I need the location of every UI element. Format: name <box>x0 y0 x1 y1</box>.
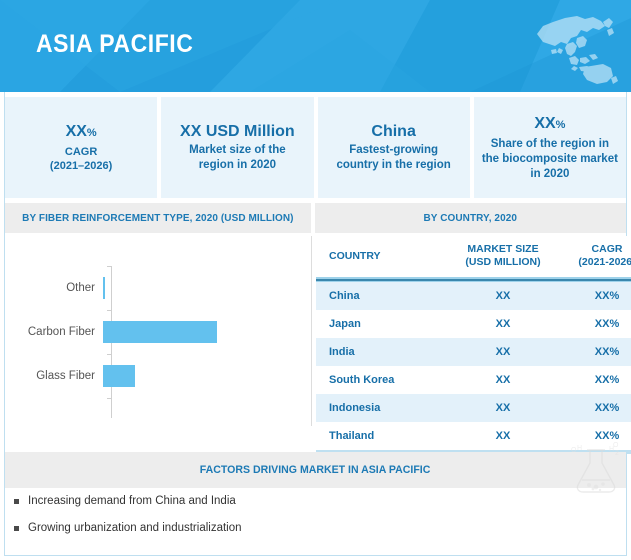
table-cell-country: India <box>316 338 451 366</box>
stat-card-fastest-country-sub: country in the region <box>336 158 450 173</box>
chart-bar-track <box>103 266 311 310</box>
stat-card-row: XX% CAGR (2021–2026) XX USD Million Mark… <box>5 97 626 198</box>
svg-text:O: O <box>613 442 619 449</box>
chart-bar-track <box>103 310 311 354</box>
stat-card-cagr-percent-sign: % <box>87 127 97 139</box>
country-table: COUNTRY MARKET SIZE (USD MILLION) CAGR (… <box>316 236 631 454</box>
stat-card-cagr: XX% CAGR (2021–2026) <box>5 97 157 198</box>
svg-text:H: H <box>577 445 582 452</box>
table-cell-market-size: XX <box>451 310 555 338</box>
stat-card-cagr-value: XX% <box>66 122 97 143</box>
table-row[interactable]: South Korea XX XX% <box>316 366 631 394</box>
chart-bar-row: Other <box>5 266 311 310</box>
asia-pacific-map-icon <box>523 8 619 86</box>
asia-pacific-infographic: ASIA PACIFIC XX% <box>0 0 631 560</box>
table-cell-market-size: XX <box>451 394 555 422</box>
stat-card-region-share-value: XX% <box>534 114 565 135</box>
flask-watermark-icon: O H H 2 O <box>569 442 623 498</box>
table-row[interactable]: Indonesia XX XX% <box>316 394 631 422</box>
table-cell-country: China <box>316 282 451 310</box>
country-table-panel: COUNTRY MARKET SIZE (USD MILLION) CAGR (… <box>316 236 626 454</box>
chart-bar-glass-fiber <box>103 365 135 387</box>
table-section-header: BY COUNTRY, 2020 <box>315 203 626 233</box>
chart-category-label: Glass Fiber <box>5 369 103 383</box>
table-cell-country: South Korea <box>316 366 451 394</box>
table-header-cagr-line1: CAGR <box>559 243 631 256</box>
page-title: ASIA PACIFIC <box>36 29 193 59</box>
chart-axis-tick <box>107 398 111 399</box>
table-body: China XX XX% Japan XX XX% India XX XX% S… <box>316 282 631 454</box>
table-header-cagr-line2: (2021-2026) <box>559 256 631 269</box>
square-bullet-icon <box>14 499 19 504</box>
table-row[interactable]: China XX XX% <box>316 282 631 310</box>
stat-card-region-share-sub: the biocomposite market in 2020 <box>480 152 620 182</box>
chart-plot-area: Other Carbon Fiber Glass Fiber <box>5 242 311 430</box>
table-cell-market-size: XX <box>451 282 555 310</box>
header-banner: ASIA PACIFIC <box>0 0 631 92</box>
chart-bar-track <box>103 354 311 398</box>
chart-section-header-label: BY FIBER REINFORCEMENT TYPE, 2020 (USD M… <box>22 212 293 224</box>
table-row[interactable]: Japan XX XX% <box>316 310 631 338</box>
fiber-reinforcement-bar-chart: Other Carbon Fiber Glass Fiber <box>5 236 311 436</box>
chart-bar-row: Carbon Fiber <box>5 310 311 354</box>
table-cell-cagr: XX% <box>555 394 631 422</box>
factors-section-header: FACTORS DRIVING MARKET IN ASIA PACIFIC <box>5 452 626 488</box>
table-cell-cagr: XX% <box>555 310 631 338</box>
chart-category-label: Other <box>5 281 103 295</box>
stat-card-region-share-desc: Share of the region in <box>491 137 609 152</box>
table-row[interactable]: India XX XX% <box>316 338 631 366</box>
chart-bar-other <box>103 277 105 299</box>
panel-divider <box>311 236 312 426</box>
table-cell-cagr: XX% <box>555 338 631 366</box>
table-cell-country: Thailand <box>316 422 451 450</box>
table-cell-market-size: XX <box>451 366 555 394</box>
table-header-market-size-line1: MARKET SIZE <box>455 243 551 256</box>
factor-list-item-label: Growing urbanization and industrializati… <box>28 521 242 536</box>
table-header-country-line1: COUNTRY <box>329 250 447 263</box>
stat-card-region-share-value-text: XX <box>534 115 555 132</box>
chart-category-label: Carbon Fiber <box>5 325 103 339</box>
chart-section-header: BY FIBER REINFORCEMENT TYPE, 2020 (USD M… <box>5 203 311 233</box>
table-header-cagr: CAGR (2021-2026) <box>555 236 631 278</box>
table-header-market-size: MARKET SIZE (USD MILLION) <box>451 236 555 278</box>
stat-card-market-size-value: XX USD Million <box>180 122 295 141</box>
table-cell-cagr: XX% <box>555 366 631 394</box>
table-cell-country: Indonesia <box>316 394 451 422</box>
factors-section-header-label: FACTORS DRIVING MARKET IN ASIA PACIFIC <box>200 464 431 476</box>
table-cell-country: Japan <box>316 310 451 338</box>
factor-list-item: Increasing demand from China and India <box>14 494 614 509</box>
stat-card-market-size-sub: region in 2020 <box>199 158 276 173</box>
stat-card-cagr-desc: CAGR <box>65 145 97 159</box>
table-cell-market-size: XX <box>451 422 555 450</box>
table-header-row: COUNTRY MARKET SIZE (USD MILLION) CAGR (… <box>316 236 631 278</box>
svg-text:2: 2 <box>615 450 619 457</box>
stat-card-cagr-sub: (2021–2026) <box>50 159 112 173</box>
stat-card-market-size: XX USD Million Market size of the region… <box>161 97 313 198</box>
chart-bar-row: Glass Fiber <box>5 354 311 398</box>
stat-card-fastest-country: China Fastest-growing country in the reg… <box>318 97 470 198</box>
stat-card-cagr-value-text: XX <box>66 123 87 140</box>
table-cell-market-size: XX <box>451 338 555 366</box>
stat-card-region-share: XX% Share of the region in the biocompos… <box>474 97 626 198</box>
table-header-country: COUNTRY <box>316 236 451 278</box>
square-bullet-icon <box>14 526 19 531</box>
table-cell-cagr: XX% <box>555 282 631 310</box>
table-header-market-size-line2: (USD MILLION) <box>455 256 551 269</box>
stat-card-fastest-country-value: China <box>371 122 415 141</box>
stat-card-market-size-desc: Market size of the <box>189 143 286 158</box>
table-section-header-label: BY COUNTRY, 2020 <box>424 212 518 224</box>
factors-list: Increasing demand from China and India G… <box>14 494 614 548</box>
factor-list-item: Growing urbanization and industrializati… <box>14 521 614 536</box>
chart-bar-carbon-fiber <box>103 321 217 343</box>
factor-list-item-label: Increasing demand from China and India <box>28 494 236 509</box>
stat-card-fastest-country-desc: Fastest-growing <box>349 143 438 158</box>
stat-card-region-share-percent-sign: % <box>556 119 566 131</box>
